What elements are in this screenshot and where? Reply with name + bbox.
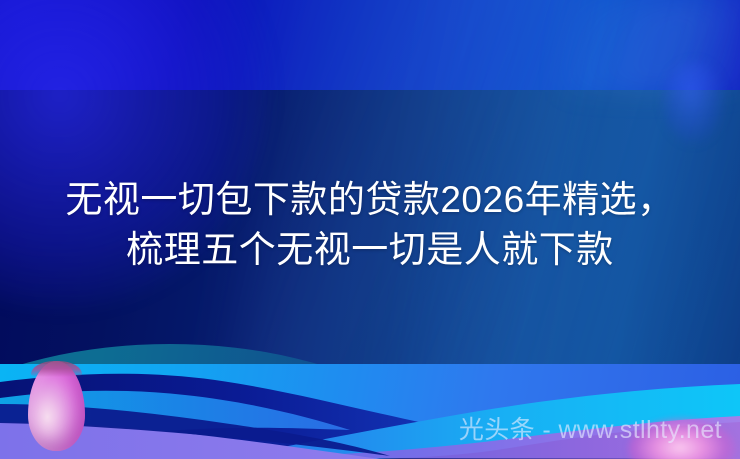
- sky-right-orb: [663, 62, 725, 144]
- poster-title: 无视一切包下款的贷款2026年精选， 梳理五个无视一切是人就下款: [0, 175, 740, 275]
- site-watermark: 光头条 - www.stlhty.net: [459, 415, 722, 445]
- poster-canvas: 无视一切包下款的贷款2026年精选， 梳理五个无视一切是人就下款 光头条 - w…: [0, 0, 740, 459]
- title-line-2: 梳理五个无视一切是人就下款: [0, 225, 740, 275]
- title-line-1: 无视一切包下款的贷款2026年精选，: [0, 175, 740, 225]
